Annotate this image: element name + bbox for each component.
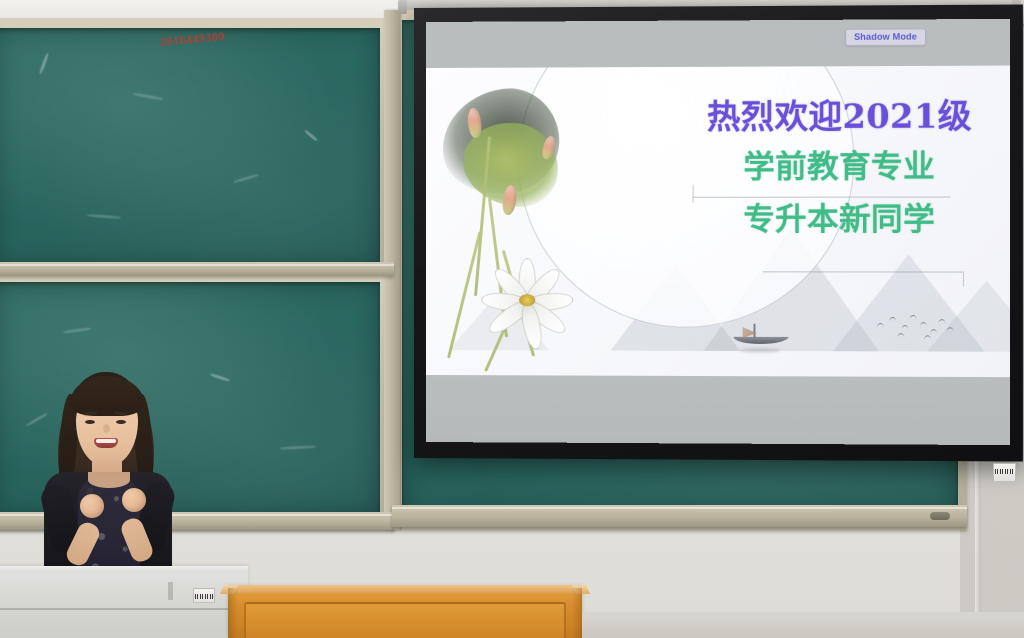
- white-lotus-flower: [471, 252, 583, 357]
- lectern-top-surface: [224, 585, 586, 593]
- slide-headline-line-2: 学前教育专业: [681, 147, 998, 189]
- bird-glyph: [897, 333, 905, 339]
- ledge-clip-hardware: [930, 512, 950, 520]
- slide-headline-line-1: 热烈欢迎2021级: [681, 94, 998, 140]
- chalk-smudge: [304, 129, 318, 142]
- lotus-artwork: [426, 67, 693, 376]
- lectern-side-shadow-left: [228, 588, 238, 638]
- barcode-lines: [995, 469, 1014, 474]
- bird-glyph: [877, 323, 885, 329]
- bird-glyph: [901, 325, 909, 331]
- chalk-smudge: [280, 445, 316, 450]
- bird-flock-motif: [875, 313, 957, 340]
- collar: [88, 472, 130, 488]
- lectern-front-panel: [244, 602, 566, 638]
- eye-right: [116, 420, 126, 424]
- floor-strip: [582, 612, 1024, 638]
- slide-headline-line-3: 专升本新同学: [681, 199, 998, 241]
- raised-fist-hand: [122, 488, 146, 512]
- slide-canvas: 热烈欢迎2021级 学前教育专业 专升本新同学: [426, 66, 1010, 377]
- blackboard-panel-upper-left: [0, 28, 380, 268]
- boat-reflection: [740, 348, 781, 353]
- roller-bracket-left: [398, 0, 407, 14]
- decorative-rule: [963, 271, 964, 287]
- podium-slot: [168, 582, 173, 600]
- bird-glyph: [889, 317, 897, 323]
- bird-glyph: [938, 319, 946, 325]
- bird-glyph: [909, 315, 917, 321]
- boat-hull: [733, 337, 789, 344]
- chalk-ledge-right: [392, 505, 967, 527]
- lectern-side-shadow-right: [572, 588, 582, 638]
- barcode-lines: [195, 594, 213, 599]
- bird-glyph: [924, 335, 932, 341]
- classroom-photo-scene: Shadow Mode: [0, 0, 1024, 638]
- teeth: [96, 439, 116, 443]
- eye-left: [85, 420, 95, 424]
- bird-glyph: [946, 327, 954, 333]
- chalk-smudge: [133, 93, 163, 101]
- nose: [103, 424, 110, 433]
- sailing-boat-motif: [733, 326, 792, 348]
- podium-top-edge: [0, 566, 248, 572]
- chalk-smudge: [38, 52, 48, 74]
- chalk-smudge: [63, 327, 91, 334]
- wall-asset-tag-sticker: [993, 463, 1016, 482]
- decorative-rule: [763, 271, 963, 272]
- hand-holding-microphone: [80, 494, 104, 518]
- podium-seam: [0, 608, 248, 610]
- shadow-mode-badge[interactable]: Shadow Mode: [845, 29, 926, 47]
- lotus-stamen: [519, 294, 535, 306]
- bird-glyph: [930, 329, 938, 335]
- podium-asset-tag-sticker: [193, 588, 215, 603]
- screen-surface[interactable]: Shadow Mode: [426, 19, 1010, 445]
- wooden-lectern: [228, 588, 582, 638]
- bird-glyph: [920, 322, 928, 328]
- chalk-ledge-upper-left: [0, 262, 394, 276]
- chalk-smudge: [87, 214, 121, 219]
- projection-screen-assembly[interactable]: Shadow Mode: [414, 8, 1014, 458]
- chalk-smudge: [233, 173, 259, 183]
- slide-headline-block: 热烈欢迎2021级 学前教育专业 专升本新同学: [681, 94, 998, 241]
